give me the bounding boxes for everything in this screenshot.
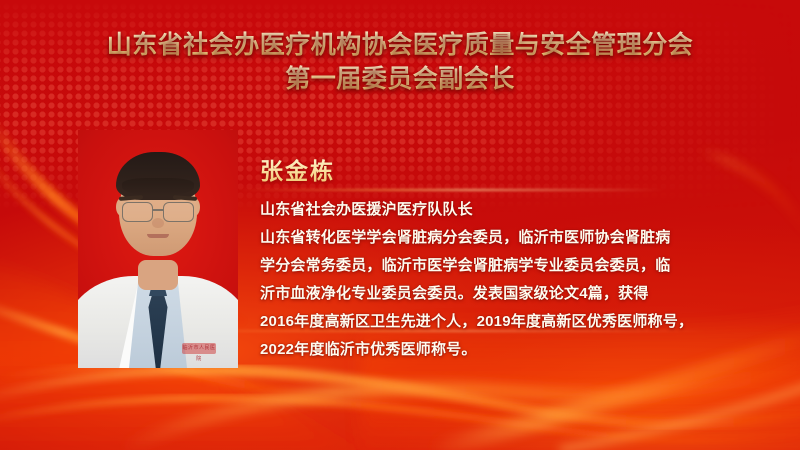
slide-root: 山东省社会办医疗机构协会医疗质量与安全管理分会 第一届委员会副会长 bbox=[0, 0, 800, 450]
bio-line: 2022年度临沂市优秀医师称号。 bbox=[260, 336, 730, 364]
slide-title: 山东省社会办医疗机构协会医疗质量与安全管理分会 第一届委员会副会长 bbox=[0, 28, 800, 96]
bio-line: 2016年度高新区卫生先进个人，2019年度高新区优秀医师称号， bbox=[260, 308, 730, 336]
glasses-lens-left bbox=[122, 202, 153, 222]
nose bbox=[152, 218, 164, 228]
neck bbox=[138, 260, 178, 290]
coat-badge-text: 临沂市人民医院 bbox=[182, 343, 216, 354]
hair bbox=[116, 152, 200, 200]
bio-line: 山东省社会办医援沪医疗队队长 bbox=[260, 196, 730, 224]
portrait-photo: 临沂市人民医院 bbox=[78, 130, 238, 368]
person-bio: 山东省社会办医援沪医疗队队长 山东省转化医学学会肾脏病分会委员，临沂市医师协会肾… bbox=[260, 196, 730, 364]
bio-line: 沂市血液净化专业委员会委员。发表国家级论文4篇，获得 bbox=[260, 280, 730, 308]
bio-line: 学分会常务委员，临沂市医学会肾脏病学专业委员会委员，临 bbox=[260, 252, 730, 280]
person-name: 张金栋 bbox=[260, 152, 335, 186]
bio-line: 山东省转化医学学会肾脏病分会委员，临沂市医师协会肾脏病 bbox=[260, 224, 730, 252]
title-line-2: 第一届委员会副会长 bbox=[0, 62, 800, 96]
mouth bbox=[147, 234, 169, 238]
glasses-lens-right bbox=[163, 202, 194, 222]
portrait-image: 临沂市人民医院 bbox=[78, 130, 238, 368]
title-line-1: 山东省社会办医疗机构协会医疗质量与安全管理分会 bbox=[0, 28, 800, 62]
